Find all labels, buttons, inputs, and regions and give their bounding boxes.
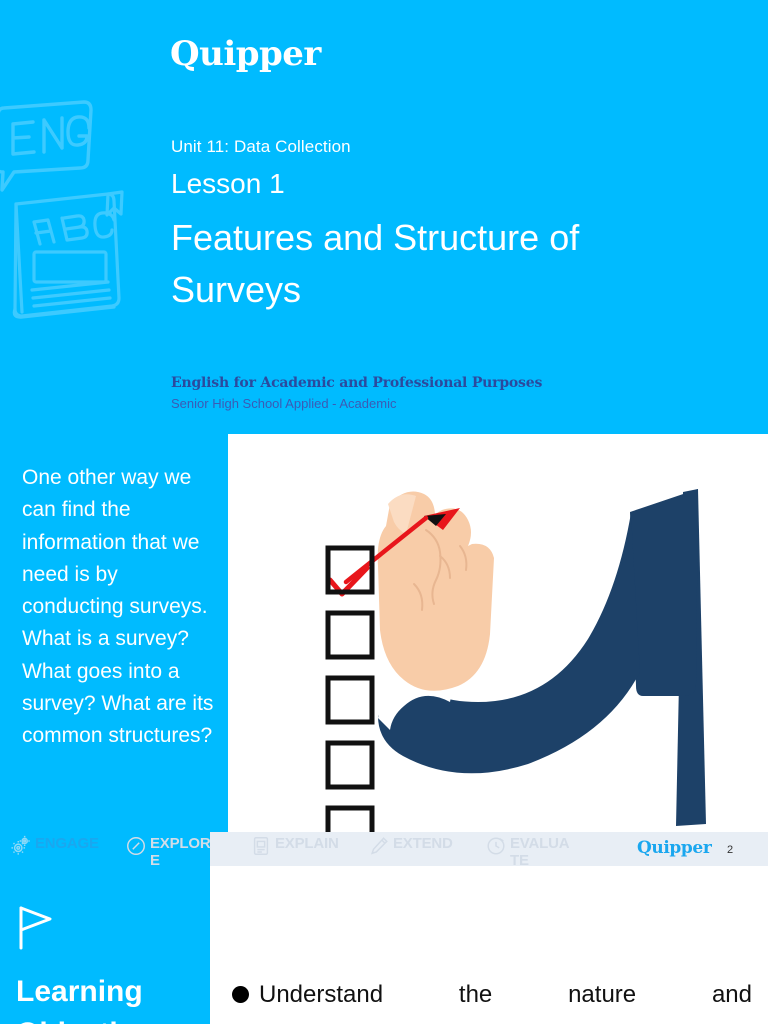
objectives-heading-panel: Learning Objectives [0, 866, 210, 1024]
bullet-dot-icon [232, 986, 249, 1003]
flag-icon [16, 904, 58, 957]
quipper-logo: Quipper [170, 34, 321, 74]
unit-label: Unit 11: Data Collection [171, 137, 351, 157]
nav-tab-engage[interactable]: ENGAGE [10, 832, 140, 866]
eng-speech-bubble-icon [0, 98, 98, 199]
nav-tab-evaluate[interactable]: EVALUATE [485, 832, 615, 866]
nav-tab-engage-label: ENGAGE [35, 835, 101, 852]
slide-engage: One other way we can find the informatio… [0, 434, 768, 866]
course-level: Senior High School Applied - Academic [171, 396, 396, 411]
objectives-bullet-text: Understand the nature and [259, 981, 752, 1008]
page-title: Features and Structure of Surveys [171, 212, 701, 316]
nav-tab-explain[interactable]: EXPLAIN [250, 832, 380, 866]
nav-tab-evaluate-label: EVALUATE [510, 835, 576, 866]
engage-text-panel: One other way we can find the informatio… [0, 434, 228, 832]
nav-tab-extend-label: EXTEND [393, 835, 459, 852]
slide-learning-objectives: Learning Objectives Understand the natur… [0, 866, 768, 1024]
nav-tab-extend[interactable]: EXTEND [368, 832, 498, 866]
nav-tab-explain-label: EXPLAIN [275, 835, 341, 852]
quipper-footer-logo: Quipper [637, 838, 711, 858]
course-name: English for Academic and Professional Pu… [171, 375, 542, 391]
slide-viewer[interactable]: Quipper Unit 11: Data Colle [0, 0, 768, 1024]
slide-title: Quipper Unit 11: Data Colle [0, 0, 768, 434]
gears-icon [10, 835, 32, 857]
abc-book-icon [4, 186, 136, 327]
objectives-heading: Learning Objectives [16, 971, 216, 1024]
compass-icon [125, 835, 147, 857]
lesson-label: Lesson 1 [171, 168, 285, 200]
engage-body-text: One other way we can find the informatio… [22, 462, 218, 753]
objectives-bullet-item: Understand the nature and [232, 978, 752, 1012]
document-icon [250, 835, 272, 857]
nav-tab-explore[interactable]: EXPLORE [125, 832, 255, 866]
clock-check-icon [485, 835, 507, 857]
hand-checking-checklist-illustration [228, 434, 768, 832]
page-number: 2 [727, 844, 733, 856]
nav-tab-explore-label: EXPLORE [150, 835, 216, 866]
pencil-icon [368, 835, 390, 857]
